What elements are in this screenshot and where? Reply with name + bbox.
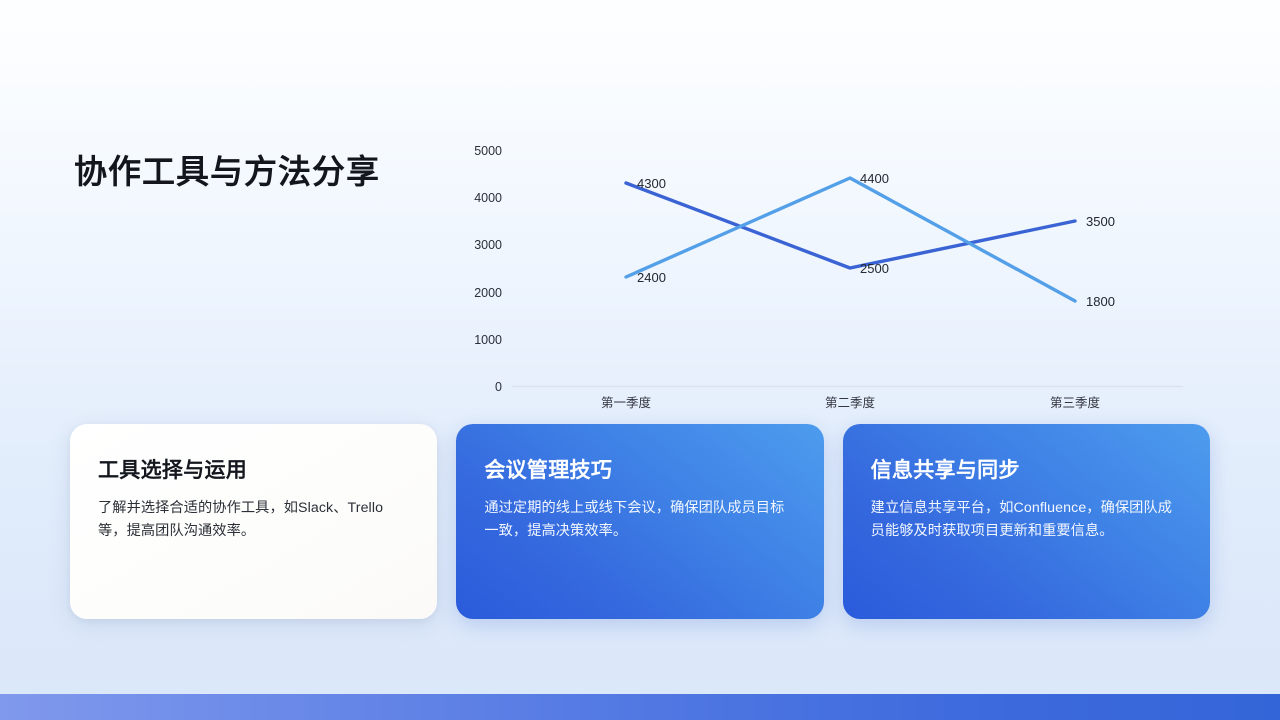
data-label-s1-q3: 3500: [1086, 214, 1115, 229]
x-tick-q1: 第一季度: [601, 395, 652, 410]
y-tick-0: 0: [495, 380, 502, 394]
feature-card-list: 工具选择与运用 了解并选择合适的协作工具，如Slack、Trello等，提高团队…: [70, 424, 1210, 619]
chart-svg: 5000 4000 3000 2000 1000 0 4300 2400 440…: [460, 132, 1200, 422]
y-tick-1000: 1000: [474, 333, 502, 347]
feature-card-tool-selection[interactable]: 工具选择与运用 了解并选择合适的协作工具，如Slack、Trello等，提高团队…: [70, 424, 437, 619]
card-title: 工具选择与运用: [98, 458, 409, 484]
data-label-s1-q2: 2500: [860, 261, 889, 276]
bottom-accent-bar: [0, 694, 1280, 720]
card-body: 了解并选择合适的协作工具，如Slack、Trello等，提高团队沟通效率。: [98, 497, 409, 543]
feature-card-information-sharing[interactable]: 信息共享与同步 建立信息共享平台，如Confluence，确保团队成员能够及时获…: [843, 424, 1210, 619]
card-title: 信息共享与同步: [871, 458, 1182, 484]
data-label-s2-q2: 4400: [860, 171, 889, 186]
y-tick-2000: 2000: [474, 286, 502, 300]
data-label-s2-q3: 1800: [1086, 294, 1115, 309]
series-2-line: [626, 178, 1075, 301]
line-chart: 5000 4000 3000 2000 1000 0 4300 2400 440…: [460, 132, 1200, 422]
x-tick-q2: 第二季度: [825, 395, 876, 410]
y-tick-5000: 5000: [474, 144, 502, 158]
page-title: 协作工具与方法分享: [74, 152, 380, 192]
data-label-s1-q1: 4300: [637, 176, 666, 191]
y-tick-4000: 4000: [474, 191, 502, 205]
x-tick-q3: 第三季度: [1050, 395, 1101, 410]
y-tick-3000: 3000: [474, 238, 502, 252]
card-body: 通过定期的线上或线下会议，确保团队成员目标一致，提高决策效率。: [484, 497, 795, 543]
card-title: 会议管理技巧: [484, 458, 795, 484]
card-body: 建立信息共享平台，如Confluence，确保团队成员能够及时获取项目更新和重要…: [871, 497, 1182, 543]
feature-card-meeting-management[interactable]: 会议管理技巧 通过定期的线上或线下会议，确保团队成员目标一致，提高决策效率。: [456, 424, 823, 619]
series-1-line: [626, 183, 1075, 268]
data-label-s2-q1: 2400: [637, 270, 666, 285]
